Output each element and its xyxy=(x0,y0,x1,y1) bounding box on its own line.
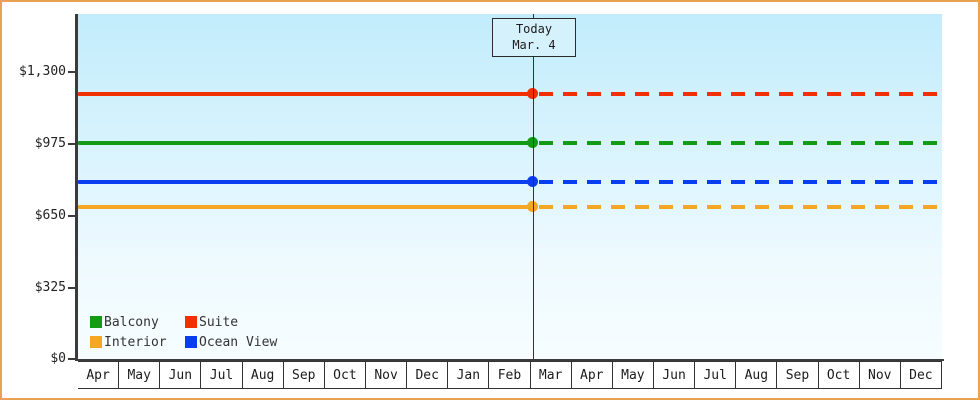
y-axis-line xyxy=(75,14,78,361)
series-line-balcony-solid xyxy=(78,141,535,145)
y-tick-label-4-wrap: $1,300 xyxy=(2,65,66,79)
legend-item-ocean-view[interactable]: Ocean View xyxy=(185,332,277,352)
legend-label-ocean-view: Ocean View xyxy=(199,336,277,349)
legend-swatch-balcony-icon xyxy=(90,316,102,328)
x-axis-month-1: May xyxy=(119,362,160,388)
legend-label-suite: Suite xyxy=(199,316,238,329)
x-axis-month-18: Oct xyxy=(819,362,860,388)
x-axis-month-10: Feb xyxy=(489,362,530,388)
today-date: Mar. 4 xyxy=(501,37,567,53)
y-tick-label-3: $975 xyxy=(6,137,66,150)
legend-row-1: Balcony Suite xyxy=(90,312,330,332)
y-tick-label-2-wrap: $650 xyxy=(2,209,66,223)
legend-swatch-interior-icon xyxy=(90,336,102,348)
today-label: Today xyxy=(501,21,567,37)
x-axis-month-6: Oct xyxy=(325,362,366,388)
series-line-suite-solid xyxy=(78,92,535,96)
x-axis-month-12: Apr xyxy=(572,362,613,388)
plot-area xyxy=(78,14,942,359)
legend-label-interior: Interior xyxy=(104,336,167,349)
y-tick-2 xyxy=(68,215,76,217)
legend-swatch-ocean-view-icon xyxy=(185,336,197,348)
x-axis-month-5: Sep xyxy=(284,362,325,388)
series-line-ocean-view-dashed xyxy=(539,180,942,184)
x-axis-month-2: Jun xyxy=(160,362,201,388)
x-axis-month-16: Aug xyxy=(736,362,777,388)
y-tick-4 xyxy=(68,71,76,73)
legend-item-interior[interactable]: Interior xyxy=(90,332,185,352)
x-axis-month-4: Aug xyxy=(243,362,284,388)
y-tick-1 xyxy=(68,287,76,289)
legend-swatch-suite-icon xyxy=(185,316,197,328)
x-axis-month-17: Sep xyxy=(777,362,818,388)
series-line-suite-dashed xyxy=(539,92,942,96)
series-line-ocean-view-solid xyxy=(78,180,535,184)
legend: Balcony Suite Interior Ocean View xyxy=(90,312,330,352)
today-marker-line xyxy=(533,14,534,359)
legend-label-balcony: Balcony xyxy=(104,316,159,329)
legend-item-suite[interactable]: Suite xyxy=(185,312,238,332)
chart-frame: $0 $325 $650 $975 $1,300 Today Mar. 4 xyxy=(0,0,980,400)
legend-row-2: Interior Ocean View xyxy=(90,332,330,352)
y-tick-3 xyxy=(68,143,76,145)
y-tick-label-1: $325 xyxy=(6,281,66,294)
x-axis-month-3: Jul xyxy=(201,362,242,388)
series-line-interior-dashed xyxy=(539,205,942,209)
x-axis-month-labels: Apr May Jun Jul Aug Sep Oct Nov Dec Jan … xyxy=(78,361,942,389)
x-axis-month-9: Jan xyxy=(448,362,489,388)
y-tick-label-4: $1,300 xyxy=(6,65,66,78)
today-annotation-box: Today Mar. 4 xyxy=(492,18,576,57)
y-tick-label-1-wrap: $325 xyxy=(2,281,66,295)
y-tick-label-0: $0 xyxy=(6,352,66,365)
x-axis-month-13: May xyxy=(613,362,654,388)
series-line-interior-solid xyxy=(78,205,535,209)
x-axis-month-15: Jul xyxy=(695,362,736,388)
y-tick-0 xyxy=(68,358,76,360)
legend-item-balcony[interactable]: Balcony xyxy=(90,312,185,332)
x-axis-month-11: Mar xyxy=(531,362,572,388)
x-axis-month-14: Jun xyxy=(654,362,695,388)
y-tick-label-0-wrap: $0 xyxy=(2,352,66,366)
y-tick-label-3-wrap: $975 xyxy=(2,137,66,151)
x-axis-month-0: Apr xyxy=(78,362,119,388)
y-tick-label-2: $650 xyxy=(6,209,66,222)
x-axis-month-7: Nov xyxy=(366,362,407,388)
x-axis-month-8: Dec xyxy=(407,362,448,388)
series-line-balcony-dashed xyxy=(539,141,942,145)
x-axis-month-20: Dec xyxy=(901,362,941,388)
x-axis-month-19: Nov xyxy=(860,362,901,388)
